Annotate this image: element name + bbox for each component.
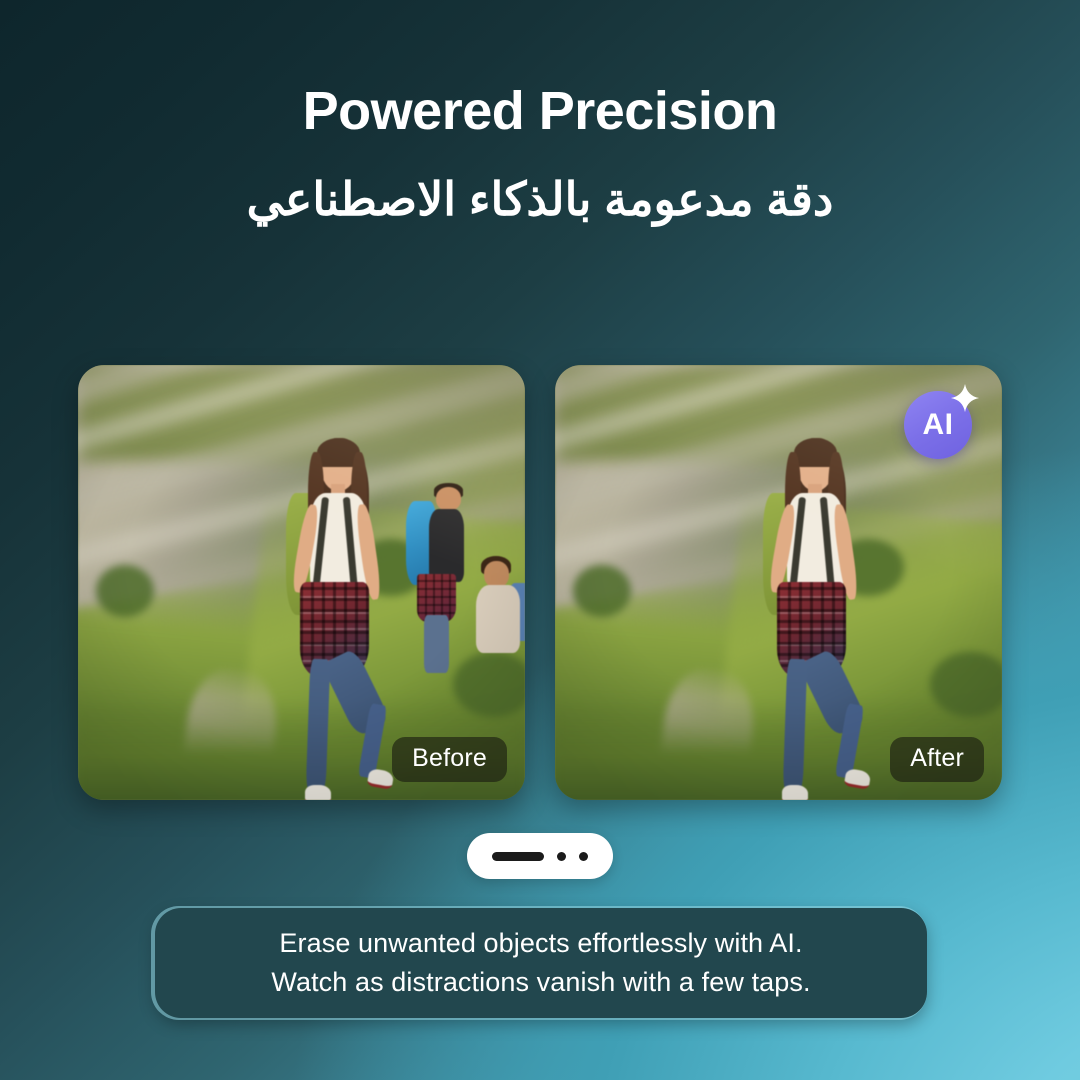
- after-photo-card[interactable]: AI After: [555, 365, 1002, 800]
- caption-line-2: Watch as distractions vanish with a few …: [271, 968, 810, 998]
- before-photo-image: [78, 365, 525, 800]
- pagination-dot-active[interactable]: [492, 852, 544, 861]
- ai-badge-label: AI: [923, 410, 954, 440]
- pagination-dot-2[interactable]: [557, 852, 566, 861]
- background-hiker-seated: [471, 561, 525, 683]
- carousel-pagination[interactable]: [467, 833, 613, 879]
- pagination-dot-3[interactable]: [579, 852, 588, 861]
- page-title-english: Powered Precision: [0, 82, 1080, 140]
- ai-badge: AI: [904, 387, 978, 461]
- before-after-comparison: Before: [78, 365, 1002, 800]
- foreground-hiker-woman: [747, 430, 881, 800]
- promo-canvas: Powered Precision دقة مدعومة بالذكاء الا…: [0, 0, 1080, 1080]
- before-label: Before: [392, 737, 507, 782]
- heading-block: Powered Precision دقة مدعومة بالذكاء الا…: [0, 0, 1080, 230]
- page-title-arabic: دقة مدعومة بالذكاء الاصطناعي: [0, 168, 1080, 230]
- sparkle-icon: [950, 383, 980, 413]
- before-photo-card[interactable]: Before: [78, 365, 525, 800]
- caption-line-1: Erase unwanted objects effortlessly with…: [279, 929, 802, 959]
- after-label: After: [890, 737, 984, 782]
- background-hiker-man: [404, 487, 476, 670]
- foreground-hiker-woman: [270, 430, 404, 800]
- caption-box: Erase unwanted objects effortlessly with…: [155, 908, 927, 1018]
